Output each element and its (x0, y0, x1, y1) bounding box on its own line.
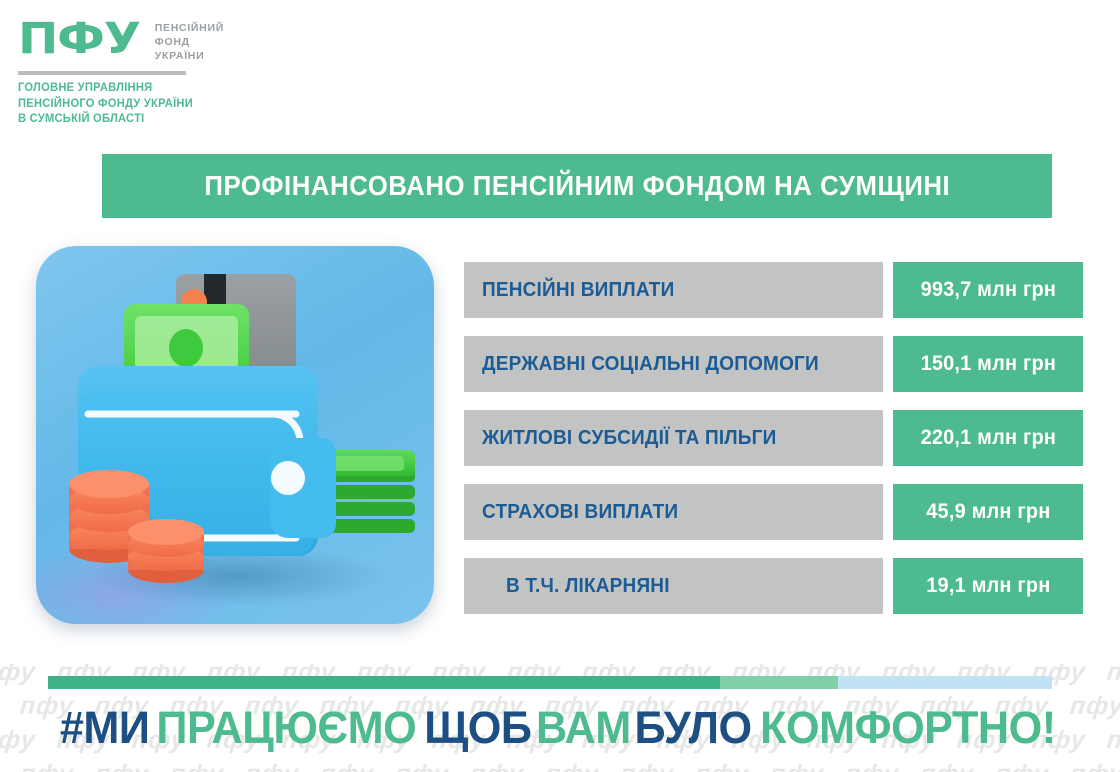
table-value-text: 220,1 млн грн (920, 426, 1056, 450)
watermark-tile: пфу (693, 760, 771, 772)
pfu-logo-mark: ПФУ (18, 18, 140, 61)
hashtag-part: ЩОБ (424, 702, 531, 754)
logo-divider (18, 71, 186, 75)
table-cell-label: ПЕНСІЙНІ ВИПЛАТИ (464, 262, 883, 318)
watermark-tile: пфу (918, 760, 996, 772)
watermark-tile: пфу (1068, 760, 1120, 772)
infographic-canvas: пфупфупфупфупфупфупфупфупфупфупфупфупфуп… (0, 0, 1120, 772)
hashtag-part: #МИ (60, 702, 150, 754)
table-row: ПЕНСІЙНІ ВИПЛАТИ993,7 млн грн (464, 262, 1084, 318)
watermark-row: пфупфупфупфупфупфупфупфупфупфупфупфупфуп… (18, 760, 1120, 772)
logo-word-1: ПЕНСІЙНИЙ (155, 21, 224, 35)
logo-word-2: ФОНД (155, 35, 224, 49)
watermark-tile: пфу (543, 760, 621, 772)
watermark-tile: пфу (18, 760, 96, 772)
accent-segment-light-green (720, 676, 838, 689)
table-cell-label: ЖИТЛОВІ СУБСИДІЇ ТА ПІЛЬГИ (464, 410, 883, 466)
financing-table: ПЕНСІЙНІ ВИПЛАТИ993,7 млн грнДЕРЖАВНІ СО… (464, 262, 1084, 614)
hashtag-slogan: #МИПРАЦЮЄМОЩОБВАМБУЛОКОМФОРТНО! (0, 702, 1120, 754)
table-value-text: 45,9 млн грн (926, 500, 1050, 524)
pfu-logo: ПФУ ПЕНСІЙНИЙ ФОНД УКРАЇНИ ГОЛОВНЕ УПРАВ… (18, 18, 224, 128)
table-label-text: В Т.Ч. ЛІКАРНЯНІ (506, 575, 670, 598)
table-cell-label: СТРАХОВІ ВИПЛАТИ (464, 484, 883, 540)
table-cell-value: 150,1 млн грн (893, 336, 1083, 392)
watermark-tile: пфу (393, 760, 471, 772)
watermark-tile: пфу (618, 760, 696, 772)
header-banner: ПРОФІНАНСОВАНО ПЕНСІЙНИМ ФОНДОМ НА СУМЩИ… (102, 154, 1052, 218)
table-cell-value: 993,7 млн грн (893, 262, 1083, 318)
hashtag-part: БУЛО (635, 702, 752, 754)
watermark-tile: пфу (168, 760, 246, 772)
table-cell-value: 19,1 млн грн (893, 558, 1083, 614)
table-label-text: ЖИТЛОВІ СУБСИДІЇ ТА ПІЛЬГИ (482, 427, 776, 450)
illustration-backdrop (36, 246, 434, 624)
coin-stack-small (128, 519, 204, 583)
table-value-text: 19,1 млн грн (926, 574, 1050, 598)
logo-subtitle: ГОЛОВНЕ УПРАВЛІННЯ ПЕНСІЙНОГО ФОНДУ УКРА… (18, 81, 218, 128)
accent-segment-green (48, 676, 720, 689)
table-row: В Т.Ч. ЛІКАРНЯНІ19,1 млн грн (464, 558, 1084, 614)
logo-subtitle-line-2: ПЕНСІЙНОГО ФОНДУ УКРАЇНИ (18, 97, 218, 113)
logo-word-3: УКРАЇНИ (155, 49, 224, 63)
accent-segment-light-blue (838, 676, 1052, 689)
watermark-tile: пфу (468, 760, 546, 772)
hashtag-part: ВАМ (536, 702, 631, 754)
table-cell-value: 45,9 млн грн (893, 484, 1083, 540)
hashtag-part: КОМФОРТНО! (761, 702, 1056, 754)
table-label-text: ДЕРЖАВНІ СОЦІАЛЬНІ ДОПОМОГИ (482, 353, 819, 376)
table-value-text: 150,1 млн грн (920, 352, 1056, 376)
table-value-text: 993,7 млн грн (920, 278, 1056, 302)
table-cell-label: В Т.Ч. ЛІКАРНЯНІ (464, 558, 883, 614)
watermark-tile: пфу (993, 760, 1071, 772)
table-label-text: СТРАХОВІ ВИПЛАТИ (482, 501, 678, 524)
hashtag-part: ПРАЦЮЄМО (157, 702, 417, 754)
watermark-tile: пфу (1105, 664, 1120, 687)
accent-bar (48, 676, 1052, 689)
watermark-tile: пфу (93, 760, 171, 772)
table-row: ЖИТЛОВІ СУБСИДІЇ ТА ПІЛЬГИ220,1 млн грн (464, 410, 1084, 466)
watermark-tile: пфу (768, 760, 846, 772)
wallet-art-svg (36, 246, 434, 624)
banner-title: ПРОФІНАНСОВАНО ПЕНСІЙНИМ ФОНДОМ НА СУМЩИ… (204, 170, 950, 202)
wallet-illustration (36, 246, 434, 624)
watermark-tile: пфу (243, 760, 321, 772)
table-row: СТРАХОВІ ВИПЛАТИ45,9 млн грн (464, 484, 1084, 540)
table-label-text: ПЕНСІЙНІ ВИПЛАТИ (482, 279, 674, 302)
pfu-logo-words: ПЕНСІЙНИЙ ФОНД УКРАЇНИ (155, 21, 224, 63)
table-cell-label: ДЕРЖАВНІ СОЦІАЛЬНІ ДОПОМОГИ (464, 336, 883, 392)
logo-subtitle-line-3: В СУМСЬКІЙ ОБЛАСТІ (18, 112, 218, 128)
logo-subtitle-line-1: ГОЛОВНЕ УПРАВЛІННЯ (18, 81, 218, 97)
table-row: ДЕРЖАВНІ СОЦІАЛЬНІ ДОПОМОГИ150,1 млн грн (464, 336, 1084, 392)
watermark-tile: пфу (318, 760, 396, 772)
watermark-tile: пфу (843, 760, 921, 772)
table-cell-value: 220,1 млн грн (893, 410, 1083, 466)
